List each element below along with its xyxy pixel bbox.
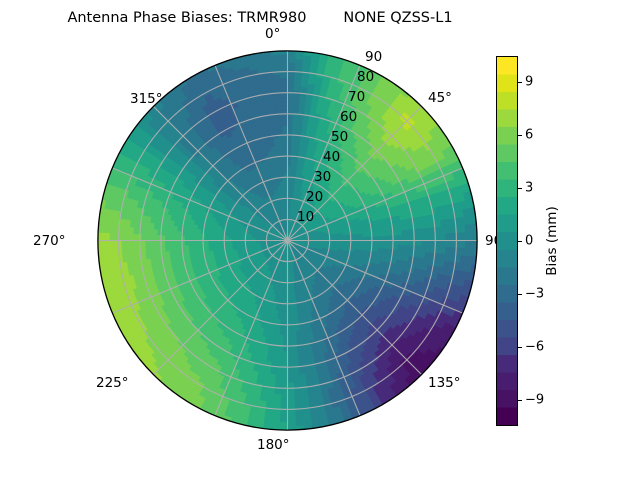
colorbar-ticklabel: −9 (525, 393, 544, 406)
polar-gridlines (98, 51, 478, 431)
figure-canvas: Antenna Phase Biases: TRMR980 NONE QZSS-… (0, 0, 640, 480)
theta-label-0: 0° (265, 27, 280, 42)
theta-label-135: 135° (428, 376, 461, 391)
r-label-60: 60 (340, 110, 357, 125)
r-label-90: 90 (365, 50, 382, 65)
colorbar-axis-label: Bias (mm) (544, 206, 560, 275)
theta-label-45: 45° (428, 91, 452, 106)
colorbar[interactable]: 9630−3−6−9 (496, 56, 518, 426)
colorbar-tickmark (518, 400, 522, 401)
theta-label-270: 270° (33, 234, 66, 249)
theta-label-180: 180° (257, 438, 290, 453)
colorbar-ticklabel: 6 (525, 129, 533, 142)
colorbar-tickmark (518, 82, 522, 83)
polar-heatmap-svg (97, 50, 478, 431)
r-label-10: 10 (297, 210, 314, 225)
colorbar-ticklabel: 9 (525, 76, 533, 89)
r-label-30: 30 (314, 170, 331, 185)
r-label-40: 40 (323, 150, 340, 165)
colorbar-ticklabel: 0 (525, 235, 533, 248)
colorbar-tickmark (518, 188, 522, 189)
r-label-80: 80 (357, 70, 374, 85)
polar-plot[interactable]: 0° 45° 90 135° 180° 225° 270° 315° 10 20… (97, 50, 478, 431)
r-label-50: 50 (331, 130, 348, 145)
colorbar-gradient (496, 56, 518, 426)
colorbar-ticklabel: 3 (525, 182, 533, 195)
colorbar-ticklabel: −3 (525, 287, 544, 300)
colorbar-ticklabel: −6 (525, 340, 544, 353)
r-label-20: 20 (306, 190, 323, 205)
colorbar-tickmark (518, 135, 522, 136)
colorbar-tickmark (518, 241, 522, 242)
colorbar-tickmark (518, 347, 522, 348)
colorbar-tickmark (518, 294, 522, 295)
page-title: Antenna Phase Biases: TRMR980 NONE QZSS-… (0, 9, 520, 27)
theta-label-315: 315° (130, 92, 163, 107)
r-label-70: 70 (348, 90, 365, 105)
theta-label-225: 225° (96, 376, 129, 391)
